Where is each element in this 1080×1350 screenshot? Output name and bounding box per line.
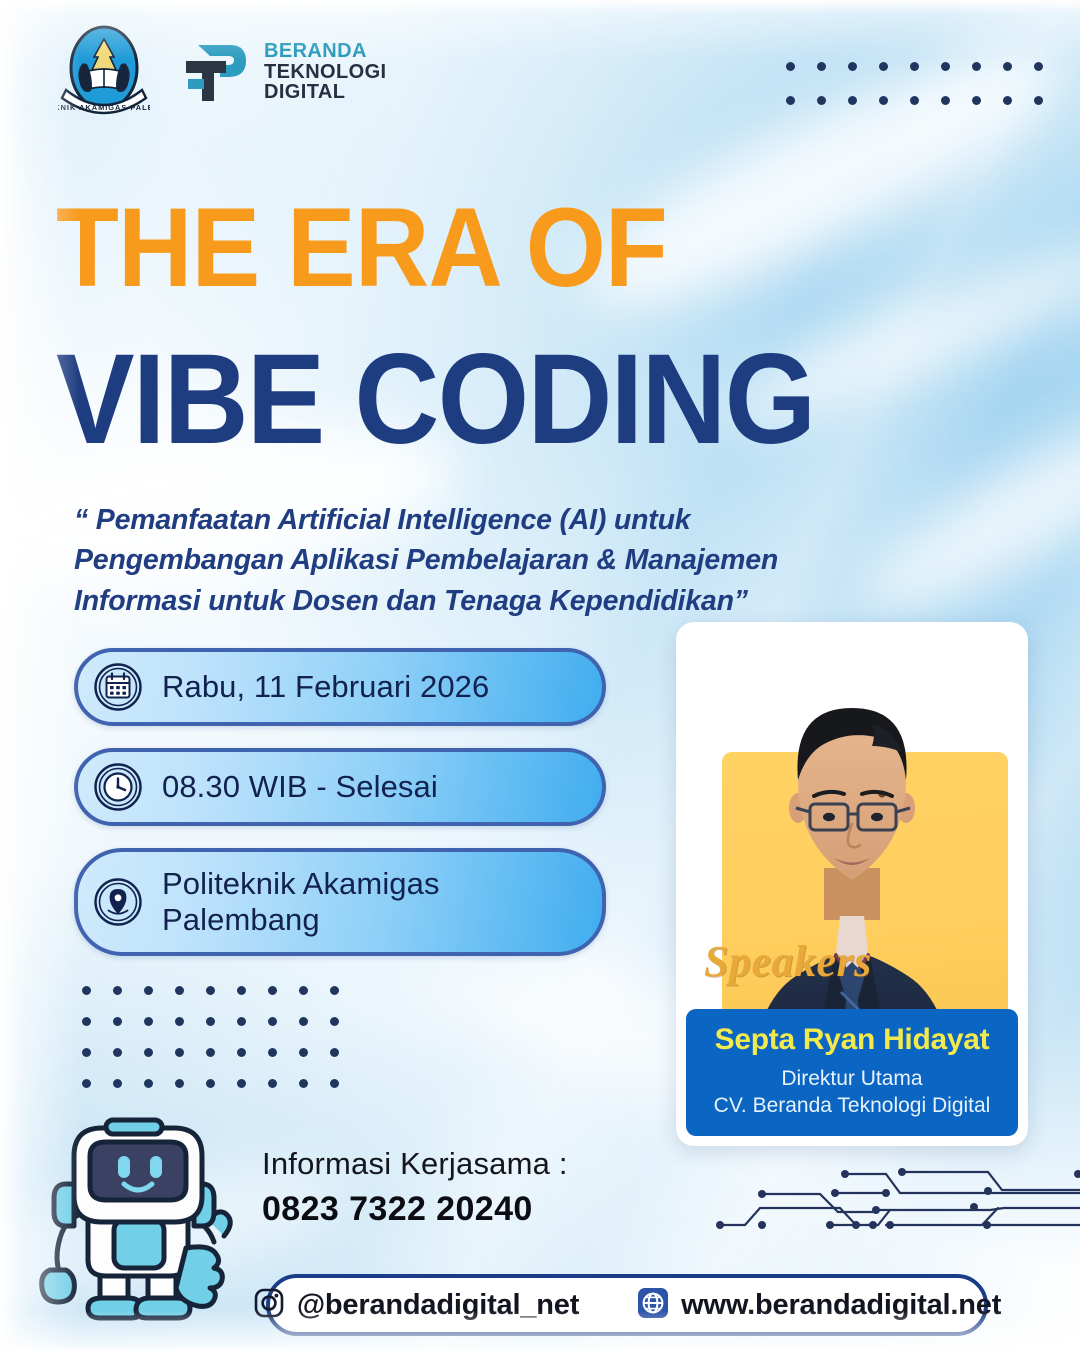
location-pin-icon [92, 876, 144, 928]
dot-grid-lower-left [82, 986, 361, 1110]
decorative-dot [817, 62, 826, 71]
circuit-trace-decoration [690, 1160, 1080, 1255]
decorative-dot [237, 986, 246, 995]
speaker-name: Septa Ryan Hidayat [696, 1023, 1008, 1057]
decorative-dot [879, 96, 888, 105]
decorative-dot [206, 1048, 215, 1057]
decorative-dot [237, 1017, 246, 1026]
decorative-dot [82, 1079, 91, 1088]
title-line-1: THE ERA OF [56, 196, 814, 299]
website-url: www.berandadigital.net [681, 1289, 1001, 1322]
decorative-dot [268, 1048, 277, 1057]
decorative-dot [786, 96, 795, 105]
contact-label: Informasi Kerjasama : [262, 1146, 568, 1182]
robot-mascot [26, 1108, 251, 1340]
decorative-dot [848, 96, 857, 105]
header-logos: POLITEKNIK AKAMIGAS PALEMBANG BERANDA TE… [58, 24, 387, 120]
contact-phone: 0823 7322 20240 [262, 1190, 568, 1229]
event-info-list: Rabu, 11 Februari 2026 08.30 WIB - Seles… [74, 648, 606, 978]
decorative-dot [237, 1048, 246, 1057]
decorative-dot [82, 1048, 91, 1057]
decorative-dot [82, 986, 91, 995]
info-pill-location-text: Politeknik Akamigas Palembang [162, 866, 580, 938]
partner-logo-line2: TEKNOLOGI [264, 62, 387, 82]
clock-icon [92, 761, 144, 813]
speakers-label: Speakers [704, 936, 872, 987]
decorative-dot [268, 1017, 277, 1026]
website-link[interactable]: www.berandadigital.net [637, 1287, 1001, 1324]
decorative-dot [268, 986, 277, 995]
beranda-teknologi-digital-logo: BERANDA TEKNOLOGI DIGITAL [178, 37, 387, 107]
info-pill-time-text: 08.30 WIB - Selesai [162, 769, 438, 805]
partner-logo-line1: BERANDA [264, 41, 387, 61]
globe-icon [637, 1287, 669, 1324]
contact-info: Informasi Kerjasama : 0823 7322 20240 [262, 1146, 568, 1229]
decorative-dot [910, 62, 919, 71]
speaker-role: Direktur Utama [696, 1065, 1008, 1093]
decorative-dot [879, 62, 888, 71]
decorative-dot [82, 1017, 91, 1026]
decorative-dot [941, 96, 950, 105]
decorative-dot [299, 1017, 308, 1026]
speaker-organization: CV. Beranda Teknologi Digital [696, 1092, 1008, 1120]
instagram-icon [253, 1287, 285, 1324]
info-pill-date-text: Rabu, 11 Februari 2026 [162, 669, 489, 705]
decorative-dot [175, 1079, 184, 1088]
decorative-dot [237, 1079, 246, 1088]
bt-monogram-icon [178, 37, 252, 107]
info-pill-date: Rabu, 11 Februari 2026 [74, 648, 606, 726]
title-line-2: VIBE CODING [56, 341, 814, 459]
decorative-dot [175, 1017, 184, 1026]
decorative-dot [113, 986, 122, 995]
decorative-dot [206, 986, 215, 995]
akamigas-crest-icon: POLITEKNIK AKAMIGAS PALEMBANG [58, 24, 150, 120]
instagram-link[interactable]: @berandadigital_net [253, 1287, 579, 1324]
decorative-dot [206, 1079, 215, 1088]
decorative-dot [113, 1079, 122, 1088]
poster-title: THE ERA OF VIBE CODING [56, 196, 880, 459]
poster-root: POLITEKNIK AKAMIGAS PALEMBANG BERANDA TE… [0, 0, 1080, 1350]
decorative-dot [299, 1079, 308, 1088]
decorative-dot [330, 1048, 339, 1057]
decorative-dot [848, 62, 857, 71]
decorative-dot [299, 986, 308, 995]
decorative-dot [144, 1017, 153, 1026]
decorative-dot [268, 1079, 277, 1088]
decorative-dot [972, 62, 981, 71]
poster-subtitle: “ Pemanfaatan Artificial Intelligence (A… [74, 500, 894, 621]
decorative-dot [144, 1079, 153, 1088]
decorative-dot [175, 1048, 184, 1057]
calendar-icon [92, 661, 144, 713]
decorative-dot [1003, 62, 1012, 71]
decorative-dot [1003, 96, 1012, 105]
decorative-dot [330, 986, 339, 995]
decorative-dot [330, 1079, 339, 1088]
partner-logo-line3: DIGITAL [264, 82, 387, 102]
instagram-handle: @berandadigital_net [297, 1289, 579, 1322]
speaker-card: Speakers Septa Ryan Hidayat Direktur Uta… [676, 622, 1028, 1146]
dot-grid-top [786, 62, 1065, 130]
decorative-dot [941, 62, 950, 71]
decorative-dot [972, 96, 981, 105]
decorative-dot [206, 1017, 215, 1026]
footer-contact-bar[interactable]: @berandadigital_net www.berandadigital.n… [266, 1274, 988, 1336]
decorative-dot [299, 1048, 308, 1057]
decorative-dot [144, 1048, 153, 1057]
decorative-dot [113, 1048, 122, 1057]
decorative-dot [175, 986, 184, 995]
decorative-dot [786, 62, 795, 71]
info-pill-location: Politeknik Akamigas Palembang [74, 848, 606, 956]
decorative-dot [910, 96, 919, 105]
decorative-dot [1034, 96, 1043, 105]
decorative-dot [330, 1017, 339, 1026]
speaker-info-block: Septa Ryan Hidayat Direktur Utama CV. Be… [686, 1009, 1018, 1136]
decorative-dot [144, 986, 153, 995]
crest-ring-text: POLITEKNIK AKAMIGAS PALEMBANG [58, 103, 150, 112]
info-pill-time: 08.30 WIB - Selesai [74, 748, 606, 826]
decorative-dot [1034, 62, 1043, 71]
decorative-dot [817, 96, 826, 105]
decorative-dot [113, 1017, 122, 1026]
